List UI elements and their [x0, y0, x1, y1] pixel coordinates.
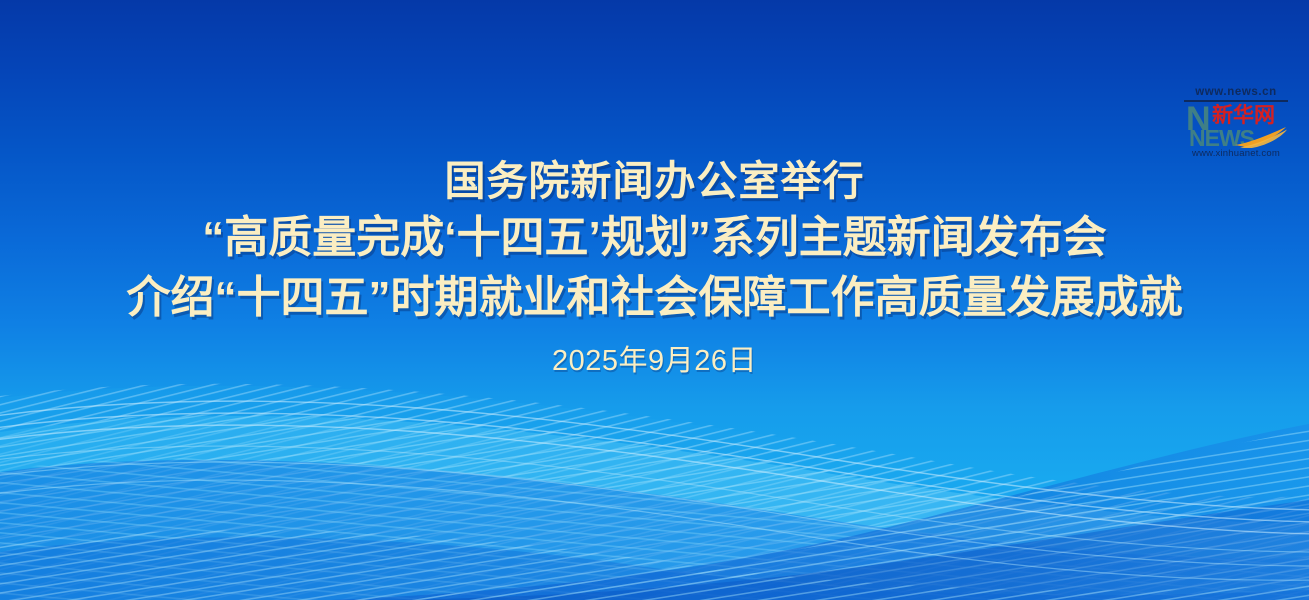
logo-swoosh-icon [1234, 126, 1288, 148]
title-block: 国务院新闻办公室举行 “高质量完成‘十四五’规划”系列主题新闻发布会 介绍“十四… [0, 154, 1309, 380]
title-line-1: 国务院新闻办公室举行 [0, 154, 1309, 208]
logo-mark: N 新华网 NEWS [1184, 104, 1288, 150]
event-date: 2025年9月26日 [0, 342, 1309, 380]
title-line-2: “高质量完成‘十四五’规划”系列主题新闻发布会 [0, 208, 1309, 268]
logo-brand-chinese: 新华网 [1212, 105, 1275, 127]
title-line-3: 介绍“十四五”时期就业和社会保障工作高质量发展成就 [0, 268, 1309, 328]
press-conference-banner: 国务院新闻办公室举行 “高质量完成‘十四五’规划”系列主题新闻发布会 介绍“十四… [0, 0, 1309, 600]
xinhua-logo[interactable]: www.news.cn N 新华网 NEWS www.xinhuanet.com [1184, 86, 1288, 160]
